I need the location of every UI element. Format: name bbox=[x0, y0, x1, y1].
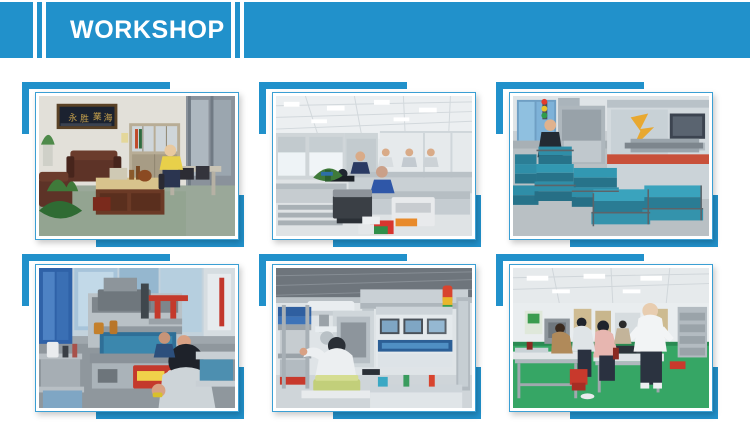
cleanroom-illustration bbox=[276, 268, 472, 408]
corner-bracket-top-left-horizontal bbox=[259, 254, 407, 261]
gallery-tile-2[interactable] bbox=[259, 82, 481, 247]
photo-office-room: 永 胜 業 海 bbox=[39, 96, 235, 236]
gallery-tile-6[interactable] bbox=[496, 254, 718, 419]
corner-bracket-bottom-right-horizontal bbox=[96, 412, 244, 419]
photo-screen-printing-area bbox=[39, 268, 235, 408]
svg-text:業: 業 bbox=[93, 110, 102, 122]
corner-bracket-bottom-right-horizontal bbox=[570, 240, 718, 247]
corner-bracket-top-left-vertical bbox=[496, 82, 503, 134]
gallery-tile-4[interactable] bbox=[22, 254, 244, 419]
page-title: WORKSHOP bbox=[70, 2, 225, 58]
screen-printing-illustration bbox=[39, 268, 235, 408]
office-room-illustration: 永 胜 業 海 bbox=[39, 96, 235, 236]
svg-text:永: 永 bbox=[68, 111, 77, 123]
corner-bracket-bottom-right-horizontal bbox=[570, 412, 718, 419]
header-divider-4 bbox=[240, 2, 244, 58]
photo-assembly-hall bbox=[513, 268, 709, 408]
svg-text:胜: 胜 bbox=[80, 113, 89, 124]
corner-bracket-bottom-right-horizontal bbox=[333, 412, 481, 419]
gallery-tile-1[interactable]: 永 胜 業 海 bbox=[22, 82, 244, 247]
corner-bracket-top-left-vertical bbox=[22, 254, 29, 306]
corner-bracket-top-left-vertical bbox=[259, 82, 266, 134]
photo-frame-6 bbox=[509, 264, 713, 412]
corner-bracket-top-left-horizontal bbox=[259, 82, 407, 89]
photo-cleanroom-inspection bbox=[276, 268, 472, 408]
photo-open-office bbox=[276, 96, 472, 236]
page-header-banner: WORKSHOP bbox=[0, 2, 750, 58]
svg-text:海: 海 bbox=[104, 111, 113, 123]
workshop-photo-grid: 永 胜 業 海 bbox=[0, 74, 750, 444]
gallery-tile-3[interactable] bbox=[496, 82, 718, 247]
photo-frame-4 bbox=[35, 264, 239, 412]
header-divider-3 bbox=[231, 2, 235, 58]
header-divider-2 bbox=[42, 2, 46, 58]
photo-frame-5 bbox=[272, 264, 476, 412]
corner-bracket-bottom-right-horizontal bbox=[96, 240, 244, 247]
corner-bracket-top-left-horizontal bbox=[22, 82, 170, 89]
corner-bracket-top-left-vertical bbox=[22, 82, 29, 134]
corner-bracket-top-left-horizontal bbox=[496, 254, 644, 261]
photo-frame-2 bbox=[272, 92, 476, 240]
photo-frame-1: 永 胜 業 海 bbox=[35, 92, 239, 240]
cnc-machining-illustration bbox=[513, 96, 709, 236]
corner-bracket-top-left-vertical bbox=[496, 254, 503, 306]
photo-cnc-machining-area bbox=[513, 96, 709, 236]
corner-bracket-top-left-horizontal bbox=[496, 82, 644, 89]
corner-bracket-top-left-vertical bbox=[259, 254, 266, 306]
gallery-tile-5[interactable] bbox=[259, 254, 481, 419]
open-office-illustration bbox=[276, 96, 472, 236]
photo-frame-3 bbox=[509, 92, 713, 240]
assembly-hall-illustration bbox=[513, 268, 709, 408]
corner-bracket-bottom-right-horizontal bbox=[333, 240, 481, 247]
header-divider-1 bbox=[33, 2, 37, 58]
corner-bracket-top-left-horizontal bbox=[22, 254, 170, 261]
